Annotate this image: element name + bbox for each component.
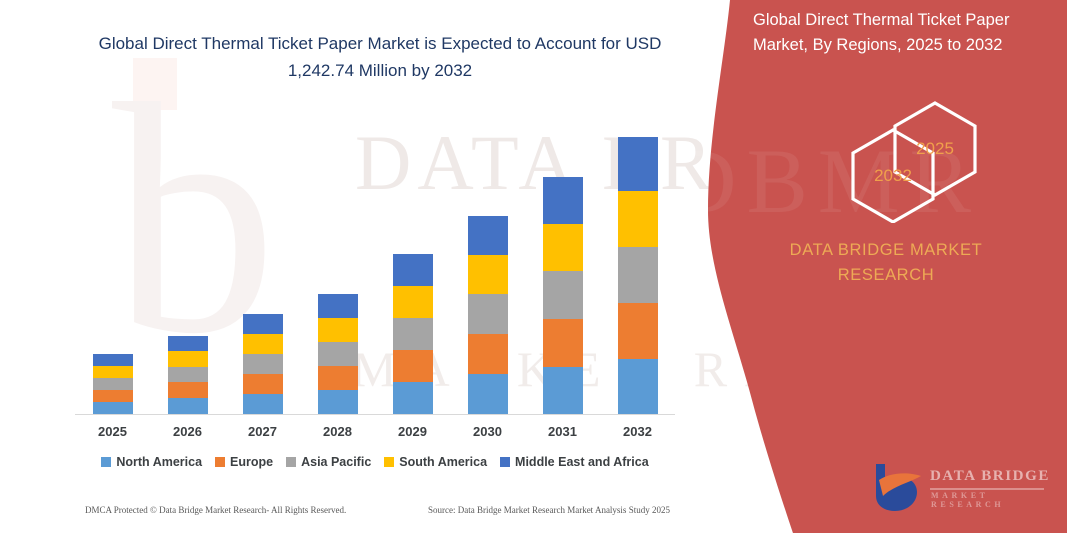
bar-segment[interactable] — [93, 390, 133, 402]
logo-mark-icon — [873, 462, 925, 512]
stacked-bar[interactable] — [468, 216, 508, 414]
bar-segment[interactable] — [243, 314, 283, 334]
bar-segment[interactable] — [318, 342, 358, 366]
dbmr-logo: DATA BRIDGE MARKET RESEARCH — [873, 462, 1053, 514]
logo-tagline: MARKET RESEARCH — [931, 491, 1053, 509]
bar-segment[interactable] — [393, 350, 433, 382]
stacked-bar-chart — [75, 105, 675, 415]
logo-divider — [930, 488, 1044, 490]
footer-source: Source: Data Bridge Market Research Mark… — [428, 505, 670, 515]
bar-segment[interactable] — [243, 374, 283, 394]
x-axis-label: 2029 — [375, 424, 450, 439]
bar-column — [75, 105, 150, 414]
bar-segment[interactable] — [618, 359, 658, 414]
legend-item[interactable]: Europe — [215, 455, 273, 469]
bar-segment[interactable] — [168, 382, 208, 398]
legend-label: Asia Pacific — [301, 455, 371, 469]
chart-title: Global Direct Thermal Ticket Paper Marke… — [75, 30, 685, 84]
stacked-bar[interactable] — [243, 314, 283, 414]
x-axis-label: 2025 — [75, 424, 150, 439]
bar-segment[interactable] — [618, 303, 658, 359]
bar-segment[interactable] — [168, 336, 208, 351]
bar-segment[interactable] — [543, 271, 583, 319]
bar-segment[interactable] — [318, 390, 358, 414]
legend-label: North America — [116, 455, 202, 469]
bar-segment[interactable] — [468, 294, 508, 334]
brand-name: DATA BRIDGE MARKET RESEARCH — [736, 238, 1036, 288]
bar-segment[interactable] — [168, 398, 208, 414]
legend-item[interactable]: North America — [101, 455, 202, 469]
x-axis-label: 2026 — [150, 424, 225, 439]
legend-swatch-icon — [500, 457, 510, 467]
bar-segment[interactable] — [543, 224, 583, 271]
bar-column — [300, 105, 375, 414]
footer-copyright: DMCA Protected © Data Bridge Market Rese… — [85, 505, 346, 515]
bar-segment[interactable] — [468, 255, 508, 294]
stacked-bar[interactable] — [543, 177, 583, 414]
chart-legend: North AmericaEuropeAsia PacificSouth Ame… — [75, 455, 675, 469]
bar-segment[interactable] — [393, 254, 433, 286]
bar-segment[interactable] — [168, 367, 208, 382]
bar-segment[interactable] — [468, 374, 508, 414]
bar-segment[interactable] — [618, 247, 658, 303]
x-axis-label: 2031 — [525, 424, 600, 439]
x-axis-label: 2032 — [600, 424, 675, 439]
right-panel: DBMR Global Direct Thermal Ticket Paper … — [690, 0, 1067, 533]
bar-segment[interactable] — [318, 318, 358, 342]
bar-segment[interactable] — [243, 394, 283, 414]
stacked-bar[interactable] — [318, 294, 358, 414]
stacked-bar[interactable] — [93, 354, 133, 414]
x-axis-line — [75, 414, 675, 415]
bar-segment[interactable] — [468, 216, 508, 255]
x-axis-label: 2027 — [225, 424, 300, 439]
bar-segment[interactable] — [393, 318, 433, 350]
bar-segment[interactable] — [543, 319, 583, 367]
bar-segment[interactable] — [243, 354, 283, 374]
legend-label: South America — [399, 455, 487, 469]
legend-label: Europe — [230, 455, 273, 469]
bar-segment[interactable] — [93, 402, 133, 414]
legend-swatch-icon — [286, 457, 296, 467]
bar-segment[interactable] — [93, 378, 133, 390]
bar-column — [225, 105, 300, 414]
bar-segment[interactable] — [468, 334, 508, 374]
bar-segment[interactable] — [618, 137, 658, 191]
legend-label: Middle East and Africa — [515, 455, 649, 469]
infographic-root: b DATA BRIDGE MARKET RESEARCH Global Dir… — [0, 0, 1067, 533]
logo-name: DATA BRIDGE — [930, 468, 1050, 485]
hexagon-2032-label: 2032 — [853, 130, 933, 222]
bar-segment[interactable] — [393, 286, 433, 318]
bar-segment[interactable] — [318, 294, 358, 318]
bar-column — [150, 105, 225, 414]
stacked-bar[interactable] — [393, 254, 433, 414]
brand-line-2: RESEARCH — [736, 263, 1036, 288]
footer: DMCA Protected © Data Bridge Market Rese… — [0, 505, 690, 529]
bar-segment[interactable] — [618, 191, 658, 247]
bar-segment[interactable] — [543, 177, 583, 224]
bar-segment[interactable] — [318, 366, 358, 390]
brand-line-1: DATA BRIDGE MARKET — [736, 238, 1036, 263]
hexagon-2032: 2032 — [853, 130, 933, 222]
stacked-bar[interactable] — [168, 336, 208, 414]
bar-column — [450, 105, 525, 414]
legend-swatch-icon — [215, 457, 225, 467]
bar-segment[interactable] — [93, 354, 133, 366]
bar-segment[interactable] — [93, 366, 133, 378]
bar-segment[interactable] — [543, 367, 583, 414]
bar-segment[interactable] — [168, 351, 208, 367]
stacked-bar[interactable] — [618, 137, 658, 414]
legend-item[interactable]: Middle East and Africa — [500, 455, 649, 469]
x-axis-labels: 20252026202720282029203020312032 — [75, 424, 675, 439]
bar-column — [375, 105, 450, 414]
legend-swatch-icon — [101, 457, 111, 467]
bar-column — [600, 105, 675, 414]
x-axis-label: 2028 — [300, 424, 375, 439]
bar-group — [75, 105, 675, 414]
bar-segment[interactable] — [243, 334, 283, 354]
bar-column — [525, 105, 600, 414]
bar-segment[interactable] — [393, 382, 433, 414]
legend-swatch-icon — [384, 457, 394, 467]
hexagon-group: 2025 2032 — [825, 98, 1025, 218]
legend-item[interactable]: South America — [384, 455, 487, 469]
panel-title: Global Direct Thermal Ticket Paper Marke… — [753, 8, 1063, 58]
x-axis-label: 2030 — [450, 424, 525, 439]
legend-item[interactable]: Asia Pacific — [286, 455, 371, 469]
